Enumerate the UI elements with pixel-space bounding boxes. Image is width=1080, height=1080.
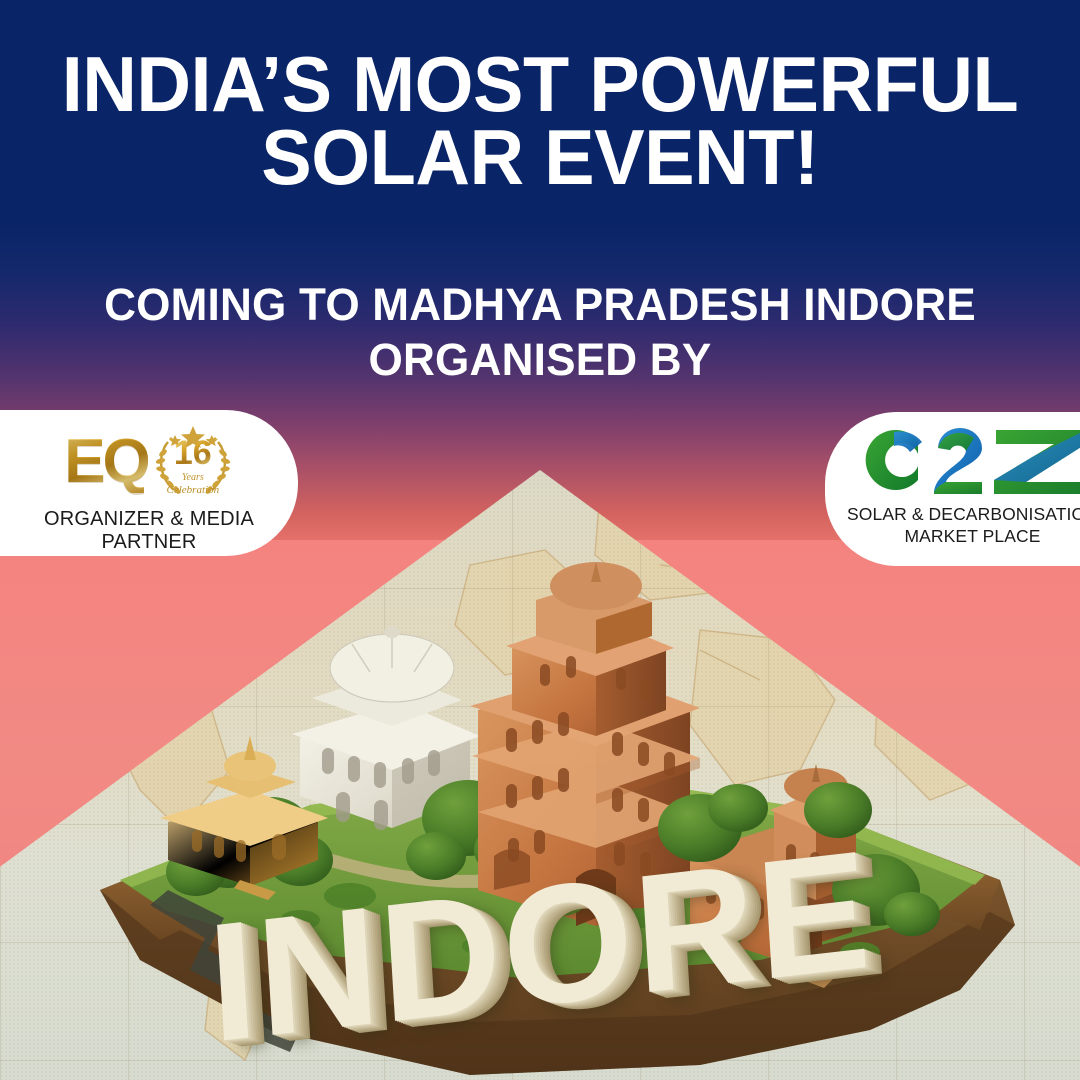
headline-line-2: SOLAR EVENT! [16,121,1064,194]
subtitle-line-2: ORGANISED BY [11,333,1069,388]
page-title: INDIA’S MOST POWERFUL SOLAR EVENT! [16,48,1064,193]
anniversary-celebration: Celebration [152,484,234,496]
organizer-badge[interactable]: EQ [0,410,298,556]
partner-badge[interactable]: SOLAR & DECARBONISATION MARKET PLACE [825,412,1080,566]
subtitle: COMING TO MADHYA PRADESH INDORE ORGANISE… [11,278,1069,388]
anniversary-years: Years [152,472,234,483]
c2z-tagline-line-2: MARKET PLACE [825,526,1080,547]
eq-logo: EQ [0,420,298,504]
c2z-wordmark-icon [854,420,1080,500]
anniversary-number: 16 [152,436,234,470]
eq-wordmark: EQ [64,431,148,493]
subtitle-line-1: COMING TO MADHYA PRADESH INDORE [104,279,976,330]
promo-poster: INDIA’S MOST POWERFUL SOLAR EVENT! COMIN… [0,0,1080,1080]
organizer-caption: ORGANIZER & MEDIA PARTNER [0,508,298,554]
laurel-wreath-icon: 16 Years Celebration [152,422,234,502]
c2z-logo [825,418,1080,502]
c2z-tagline-line-1: SOLAR & DECARBONISATION [825,504,1080,525]
